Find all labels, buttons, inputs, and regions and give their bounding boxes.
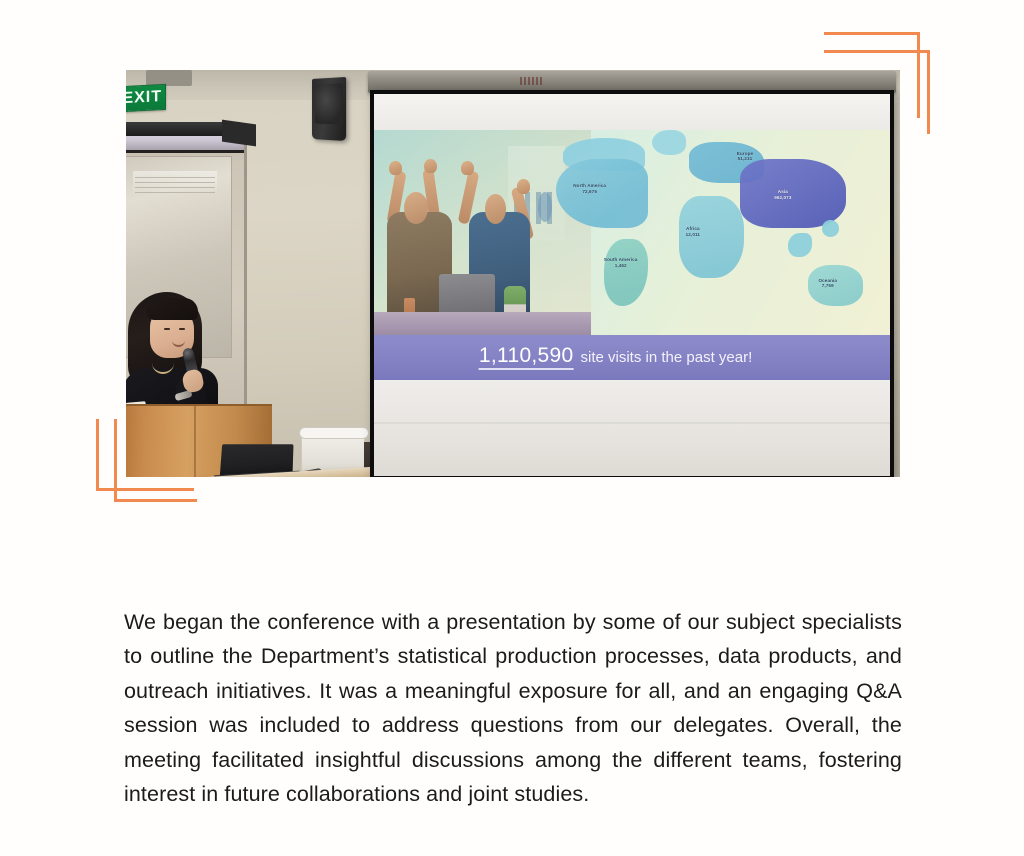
map-region-name: South America [604,257,638,262]
map-label-africa: Africa 12,011 [686,226,700,237]
landmass-southeast-asia [788,233,812,258]
map-label-south-america: South America 1,462 [604,257,638,268]
screen-blank-top [374,94,890,130]
screen-brand-logo [520,77,542,85]
map-region-name: North America [573,183,606,188]
projection-surface: North America 72,675 South America 1,462… [374,94,890,476]
raised-fist [461,161,474,175]
bracket-line-vertical-inner [114,419,117,502]
landmass-asia [740,159,846,229]
map-label-oceania: Oceania 7,759 [818,278,837,289]
map-label-asia: Asia 962,073 [774,189,791,200]
bracket-line-horizontal-inner [824,50,930,53]
landmass-philippines [822,220,839,236]
screen-blank-bottom [374,380,890,476]
partition-side-trim [222,120,256,147]
map-region-name: Africa [686,226,700,231]
exit-sign: EXIT [126,84,166,112]
map-label-europe: Europe 51,231 [737,151,753,162]
bracket-line-horizontal-inner [96,488,194,491]
presenter-fringe [146,298,198,320]
bracket-line-horizontal-outer [114,499,197,502]
presenter-smile [172,338,185,347]
slide-statistic-banner: 1,110,590 site visits in the past year! [374,335,890,380]
projector-screen: North America 72,675 South America 1,462… [370,90,894,477]
raised-fist [389,161,402,175]
exit-sign-label: EXIT [126,89,162,107]
map-region-name: Europe [737,151,753,156]
ceiling-reflection [135,177,215,193]
conference-photo: EXIT [126,70,900,477]
bracket-line-vertical-outer [96,419,99,491]
presenter [128,292,233,422]
world-map: North America 72,675 South America 1,462… [549,130,890,335]
slide-visit-count: 1,110,590 [479,345,574,370]
map-region-value: 12,011 [686,232,700,238]
wall-speaker-icon [312,77,346,141]
map-label-north-america: North America 72,675 [573,183,606,194]
slide-visit-caption: site visits in the past year! [581,350,753,365]
bracket-line-vertical-outer [927,50,930,134]
raised-fist [517,179,530,193]
map-region-value: 1,462 [604,263,638,269]
map-region-value: 7,759 [818,283,837,289]
map-region-value: 51,231 [737,156,753,162]
map-region-value: 962,073 [774,195,791,201]
raised-fist [424,159,437,173]
map-region-name: Asia [778,189,788,194]
map-region-value: 72,675 [573,189,606,195]
presentation-slide: North America 72,675 South America 1,462… [374,130,890,380]
presenter-eye-right [179,328,185,330]
landmass-greenland [652,130,686,155]
map-region-name: Oceania [818,278,837,283]
bracket-line-horizontal-outer [824,32,920,35]
landmass-south-america [604,239,648,307]
caption-paragraph: We began the conference with a presentat… [124,605,902,812]
bracket-line-vertical-inner [917,32,920,118]
presenter-eye-left [164,328,170,330]
slide-statistic-inner: 1,110,590 site visits in the past year! [479,345,752,370]
